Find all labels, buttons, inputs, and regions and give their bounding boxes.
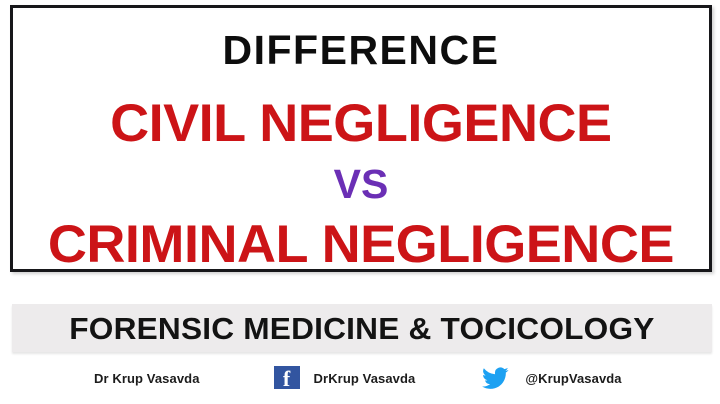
facebook-icon[interactable]: f [274,366,298,390]
twitter-icon[interactable] [481,366,509,390]
social-link-instagram[interactable]: Dr Krup Vasavda [54,356,200,400]
title-card: DIFFERENCE CIVIL NEGLIGENCE VS CRIMINAL … [10,5,712,272]
page-title: DIFFERENCE [223,30,500,71]
channel-banner: FORENSIC MEDICINE & TOCICOLOGY [12,304,712,352]
subject-line-criminal-negligence: CRIMINAL NEGLIGENCE [48,218,674,271]
social-link-facebook[interactable]: f DrKrup Vasavda [274,356,416,400]
social-link-twitter[interactable]: @KrupVasavda [481,356,621,400]
instagram-handle: Dr Krup Vasavda [94,371,200,386]
subject-line-civil-negligence: CIVIL NEGLIGENCE [110,97,611,150]
channel-banner-title: FORENSIC MEDICINE & TOCICOLOGY [69,313,654,344]
social-links-row: Dr Krup Vasavda f DrKrup Vasavda @KrupVa… [12,356,712,400]
twitter-handle: @KrupVasavda [525,371,621,386]
instagram-icon[interactable] [54,366,78,390]
facebook-handle: DrKrup Vasavda [314,371,416,386]
versus-separator: VS [334,164,389,205]
